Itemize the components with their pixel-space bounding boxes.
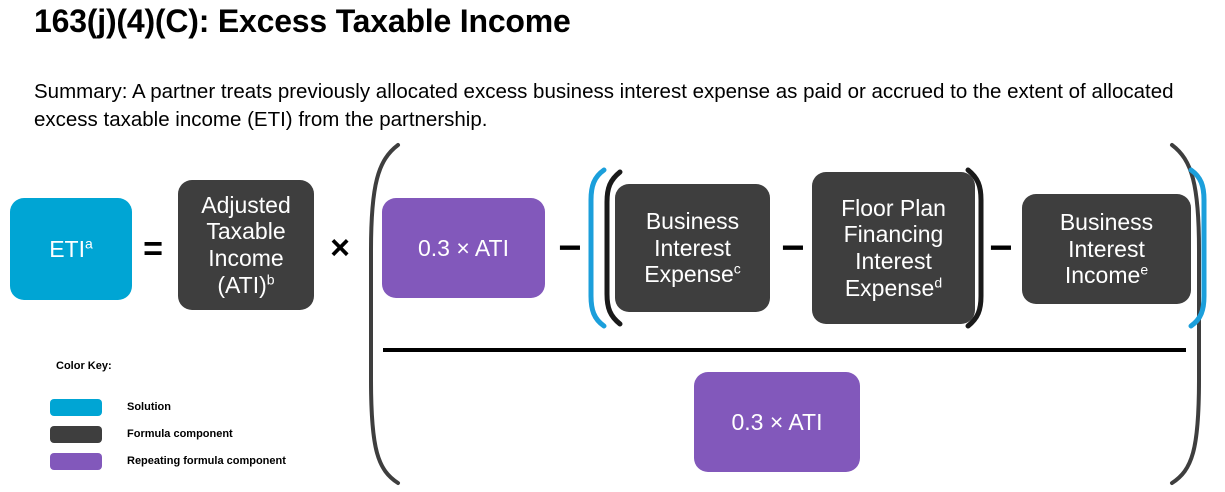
- summary-text: Summary: A partner treats previously all…: [34, 78, 1184, 135]
- formula-box-numerator-ati-factor: 0.3 × ATI: [382, 198, 545, 298]
- formula-box-bie-line-2: Interest: [654, 235, 731, 261]
- formula-box-ati-line-4: (ATI): [217, 272, 266, 298]
- formula-box-ati-line-3: Income: [208, 245, 283, 271]
- color-key-label-repeating-formula-component: Repeating formula component: [127, 455, 286, 467]
- formula-box-fpfie-line-4: Expense: [845, 275, 935, 301]
- formula-box-denominator-ati-factor-label: 0.3 × ATI: [732, 409, 823, 436]
- color-key-title: Color Key:: [56, 360, 112, 372]
- formula-box-fpfie-superscript: d: [934, 274, 942, 290]
- formula-box-bie-line-3: Expense: [644, 261, 734, 287]
- cyan-bracket-right: [1191, 170, 1204, 326]
- formula-box-business-interest-income: Business Interest Incomee: [1022, 194, 1191, 304]
- formula-box-bii-line-1: Business: [1060, 209, 1153, 235]
- formula-box-bii-line-3: Income: [1065, 262, 1140, 288]
- formula-box-fpfie-line-1: Floor Plan: [841, 195, 946, 221]
- color-key-label-formula-component: Formula component: [127, 428, 233, 440]
- formula-box-denominator-ati-factor: 0.3 × ATI: [694, 372, 860, 472]
- formula-box-fpfie-line-2: Financing: [844, 221, 944, 247]
- formula-box-eti-superscript: a: [85, 235, 93, 251]
- formula-box-bii-line-2: Interest: [1068, 236, 1145, 262]
- color-swatch-repeating-formula-component: [50, 453, 102, 470]
- multiply-operator: ×: [324, 230, 356, 266]
- page-title: 163(j)(4)(C): Excess Taxable Income: [34, 2, 571, 40]
- color-key-label-solution: Solution: [127, 401, 171, 413]
- formula-box-ati-line-2: Taxable: [206, 218, 285, 244]
- fraction-bar: [383, 348, 1186, 352]
- formula-box-eti: ETIa: [10, 198, 132, 300]
- formula-box-bie-line-1: Business: [646, 208, 739, 234]
- formula-box-numerator-ati-factor-label: 0.3 × ATI: [418, 235, 509, 262]
- color-swatch-solution: [50, 399, 102, 416]
- cyan-bracket-left: [591, 170, 604, 326]
- formula-box-business-interest-expense: Business Interest Expensec: [615, 184, 770, 312]
- outer-paren-left: [371, 145, 398, 483]
- minus-operator-3: −: [986, 228, 1016, 268]
- color-swatch-formula-component: [50, 426, 102, 443]
- formula-box-bii-superscript: e: [1140, 262, 1148, 278]
- equals-operator: =: [136, 232, 170, 266]
- formula-box-fpfie-line-3: Interest: [855, 248, 932, 274]
- slide-canvas: 163(j)(4)(C): Excess Taxable Income Summ…: [0, 0, 1225, 492]
- formula-box-ati-superscript: b: [267, 271, 275, 287]
- formula-box-ati: Adjusted Taxable Income (ATI)b: [178, 180, 314, 310]
- formula-box-floor-plan-financing-interest-expense: Floor Plan Financing Interest Expensed: [812, 172, 975, 324]
- formula-box-ati-line-1: Adjusted: [201, 192, 291, 218]
- formula-box-bie-superscript: c: [734, 261, 741, 277]
- formula-box-eti-label: ETI: [49, 236, 85, 262]
- minus-operator-1: −: [555, 228, 585, 268]
- minus-operator-2: −: [778, 228, 808, 268]
